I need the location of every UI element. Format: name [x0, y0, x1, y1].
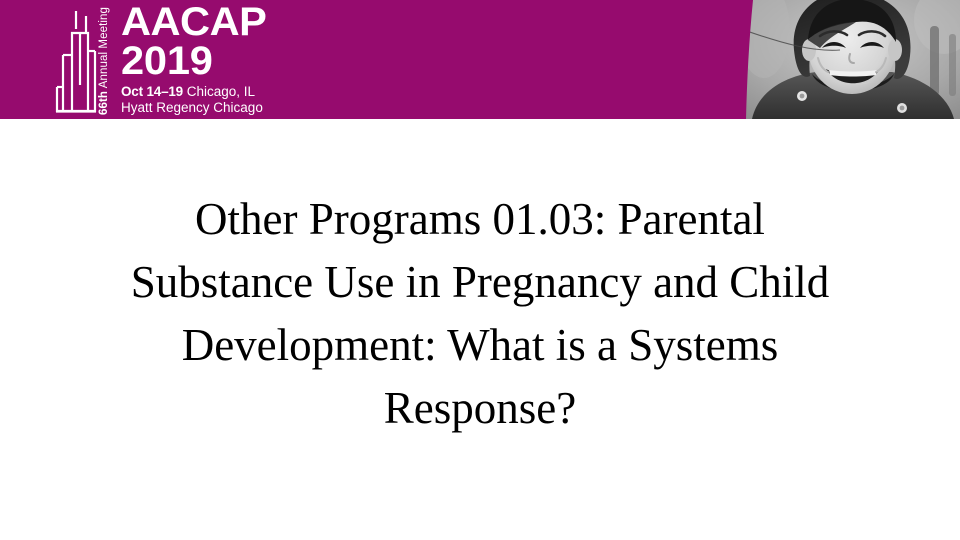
- slide-title: Other Programs 01.03: Parental Substance…: [50, 188, 910, 440]
- title-line-2: Substance Use in Pregnancy and Child: [50, 251, 910, 314]
- meeting-city: Chicago, IL: [183, 84, 255, 99]
- aacap-wordmark: AACAP: [121, 3, 269, 41]
- meeting-dates-location: Oct 14–19 Chicago, IL: [121, 84, 263, 100]
- presentation-slide: 66th Annual Meeting AACAP 2019 Oct 14–19…: [0, 0, 960, 540]
- title-line-4: Response?: [50, 377, 910, 440]
- annual-meeting-vertical-label: 66th Annual Meeting: [95, 7, 113, 115]
- aacap-logo-lockup: 66th Annual Meeting AACAP 2019 Oct 14–19…: [55, 3, 315, 117]
- meeting-dates: Oct 14–19: [121, 84, 183, 99]
- title-line-3: Development: What is a Systems: [50, 314, 910, 377]
- logo-text-block: AACAP 2019 Oct 14–19 Chicago, IL Hyatt R…: [121, 3, 263, 116]
- year-wordmark: 2019: [121, 41, 269, 81]
- meeting-ordinal: 66th: [98, 91, 110, 115]
- slide-header-band: 66th Annual Meeting AACAP 2019 Oct 14–19…: [0, 0, 960, 119]
- meeting-venue: Hyatt Regency Chicago: [121, 100, 263, 116]
- meeting-label: Annual Meeting: [98, 7, 110, 91]
- title-line-1: Other Programs 01.03: Parental: [50, 188, 910, 251]
